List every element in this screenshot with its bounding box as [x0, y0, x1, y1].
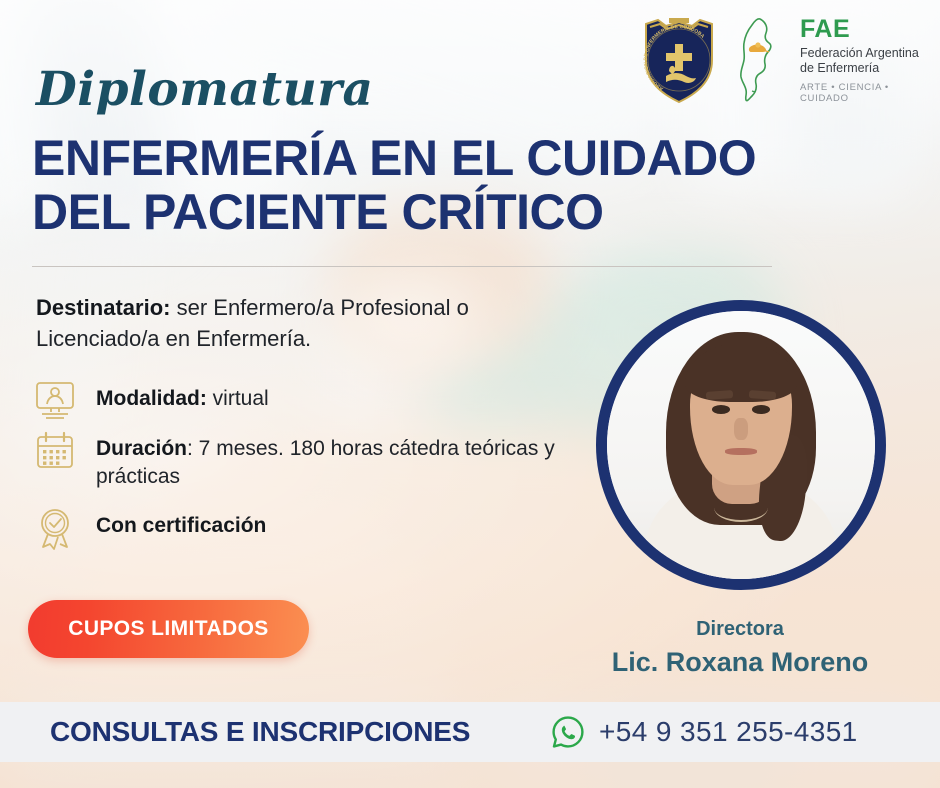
certificate-badge-icon: [32, 505, 78, 551]
page-title: ENFERMERÍA EN EL CUIDADO DEL PACIENTE CR…: [32, 131, 922, 239]
audience-text: Destinatario: ser Enfermero/a Profesiona…: [36, 292, 576, 354]
page-title-line1: ENFERMERÍA EN EL CUIDADO: [32, 130, 756, 186]
feature-duracion-text: Duración: 7 meses. 180 horas cátedra teó…: [96, 428, 566, 492]
whatsapp-contact[interactable]: +54 9 351 255-4351: [551, 715, 858, 749]
asociacion-shield-icon: ASOCIACION DE ENFERMERIA DE CORDOBA: [636, 14, 722, 106]
divider: [32, 266, 772, 267]
feature-modalidad-text: Modalidad: virtual: [96, 378, 269, 413]
director-name: Lic. Roxana Moreno: [560, 644, 920, 680]
feature-certificacion-label: Con certificación: [96, 514, 266, 537]
calendar-icon: [32, 428, 78, 474]
fae-name-line1: Federación Argentina: [800, 46, 928, 62]
fae-tagline: ARTE • CIENCIA • CUIDADO: [800, 82, 928, 104]
fae-wordmark: FAE Federación Argentina de Enfermería A…: [794, 16, 928, 103]
feature-certificacion-text: Con certificación: [96, 505, 266, 540]
director-role: Directora: [560, 616, 920, 642]
argentina-map-icon: [728, 14, 788, 106]
feature-modalidad-value: virtual: [207, 387, 269, 410]
director-portrait: [596, 300, 886, 590]
fae-name-line2: de Enfermería: [800, 61, 928, 77]
contact-title: CONSULTAS E INSCRIPCIONES: [50, 716, 470, 748]
monitor-person-icon: [32, 378, 78, 424]
feature-duracion-label: Duración: [96, 437, 187, 460]
feature-certificacion: Con certificación: [32, 505, 266, 551]
feature-duracion: Duración: 7 meses. 180 horas cátedra teó…: [32, 428, 566, 492]
cupos-limitados-label: CUPOS LIMITADOS: [68, 617, 268, 641]
director-caption: Directora Lic. Roxana Moreno: [560, 616, 920, 680]
contact-bar: CONSULTAS E INSCRIPCIONES +54 9 351 255-…: [0, 702, 940, 762]
flyer-root: ASOCIACION DE ENFERMERIA DE CORDOBA FAE …: [0, 0, 940, 788]
cupos-limitados-button[interactable]: CUPOS LIMITADOS: [28, 600, 309, 658]
audience-label: Destinatario:: [36, 295, 170, 320]
page-title-line2: DEL PACIENTE CRÍTICO: [32, 185, 922, 239]
feature-modalidad: Modalidad: virtual: [32, 378, 269, 424]
eyebrow-title: Diplomatura: [36, 62, 373, 117]
feature-modalidad-label: Modalidad:: [96, 387, 207, 410]
phone-number[interactable]: +54 9 351 255-4351: [599, 716, 858, 748]
whatsapp-icon[interactable]: [551, 715, 585, 749]
logo-group: ASOCIACION DE ENFERMERIA DE CORDOBA FAE …: [636, 14, 928, 106]
fae-abbreviation: FAE: [800, 16, 928, 42]
